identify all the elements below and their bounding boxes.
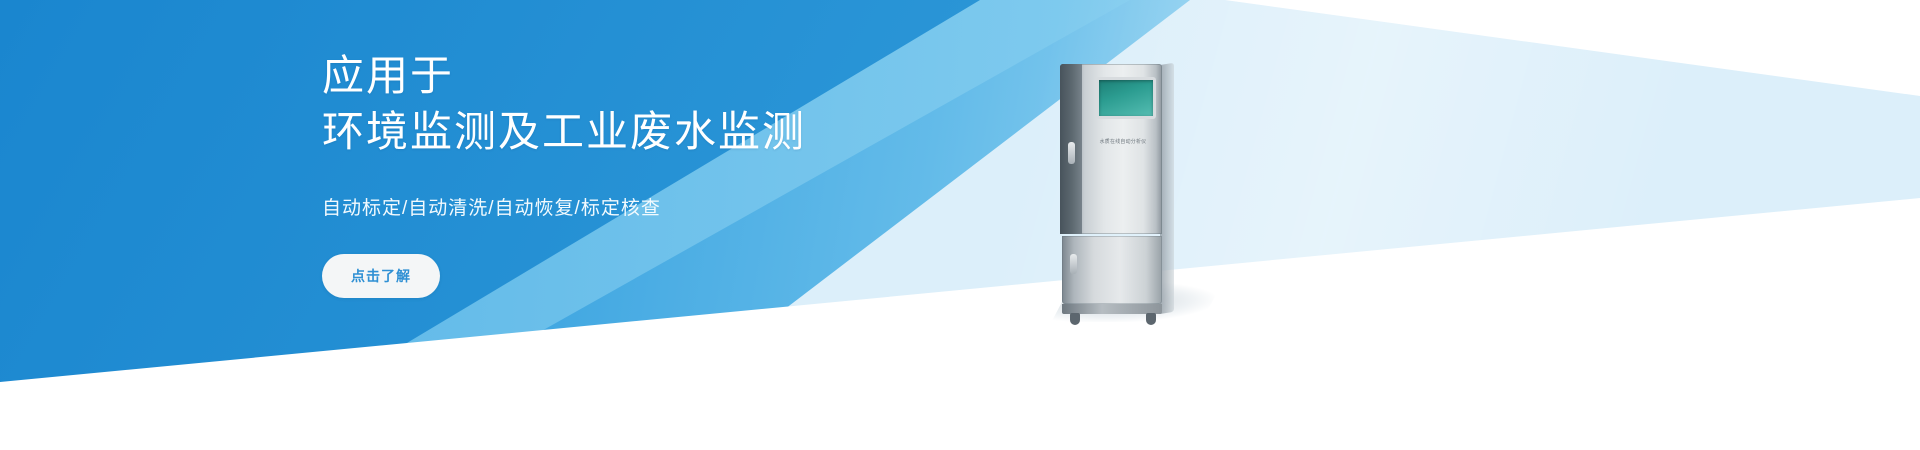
hero-banner: 应用于 环境监测及工业废水监测 自动标定/自动清洗/自动恢复/标定核查 点击了解… bbox=[0, 0, 1920, 450]
device-caster-left bbox=[1070, 313, 1080, 325]
device-lower-door-handle bbox=[1070, 254, 1077, 274]
device-caster-right bbox=[1146, 313, 1156, 325]
banner-copy-block: 应用于 环境监测及工业废水监测 自动标定/自动清洗/自动恢复/标定核查 点击了解 bbox=[322, 48, 1082, 298]
headline-line-2: 环境监测及工业废水监测 bbox=[322, 104, 1082, 160]
device-lower-cabinet bbox=[1062, 236, 1162, 304]
device-side-panel bbox=[1160, 63, 1174, 314]
learn-more-button[interactable]: 点击了解 bbox=[322, 254, 440, 298]
water-quality-analyzer-image: 水质在线自动分析仪 bbox=[1060, 64, 1170, 314]
device-display-screen bbox=[1096, 77, 1156, 119]
subheadline: 自动标定/自动清洗/自动恢复/标定核查 bbox=[322, 193, 1082, 220]
device-upper-door-handle bbox=[1068, 142, 1075, 164]
headline-line-1: 应用于 bbox=[322, 48, 1082, 104]
device-brand-label: 水质在线自动分析仪 bbox=[1087, 138, 1160, 145]
device-upper-cabinet: 水质在线自动分析仪 bbox=[1060, 64, 1162, 234]
